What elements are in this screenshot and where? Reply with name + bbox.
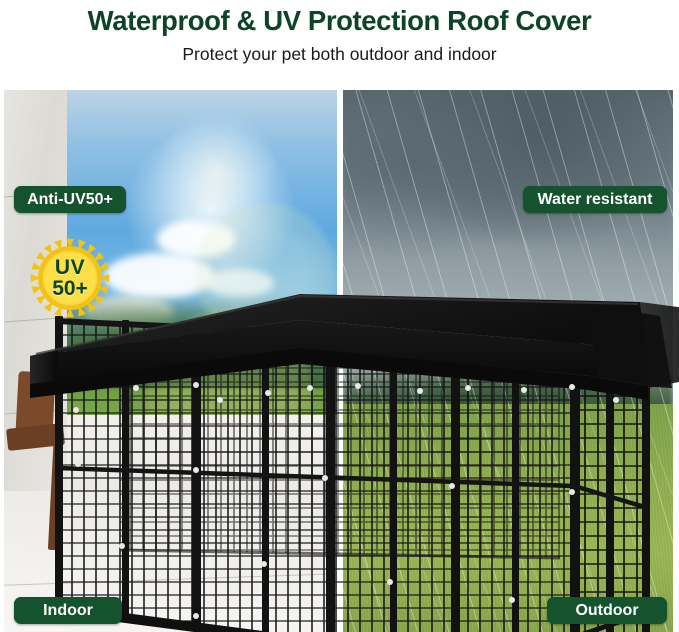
badge-water-resistant: Water resistant xyxy=(523,186,667,213)
badge-outdoor: Outdoor xyxy=(547,597,667,624)
header: Waterproof & UV Protection Roof Cover Pr… xyxy=(0,0,679,88)
uv-rating-medallion: UV 50+ xyxy=(30,238,110,318)
badge-indoor: Indoor xyxy=(14,597,122,624)
storm-clouds xyxy=(343,90,673,274)
tile-grout-line xyxy=(4,573,337,586)
uv-value: 50+ xyxy=(52,278,88,299)
product-image-stage: UV 50+ Anti-UV50+ Water resistant Indoor… xyxy=(0,88,679,632)
outdoor-scene-panel xyxy=(343,90,673,632)
page-subtitle: Protect your pet both outdoor and indoor xyxy=(0,38,679,65)
indoor-scene-panel xyxy=(4,90,337,632)
uv-label: UV xyxy=(55,257,85,278)
page-title: Waterproof & UV Protection Roof Cover xyxy=(0,0,679,38)
badge-anti-uv: Anti-UV50+ xyxy=(14,186,126,213)
cloud xyxy=(157,220,235,258)
uv-medallion-text: UV 50+ xyxy=(30,238,110,318)
